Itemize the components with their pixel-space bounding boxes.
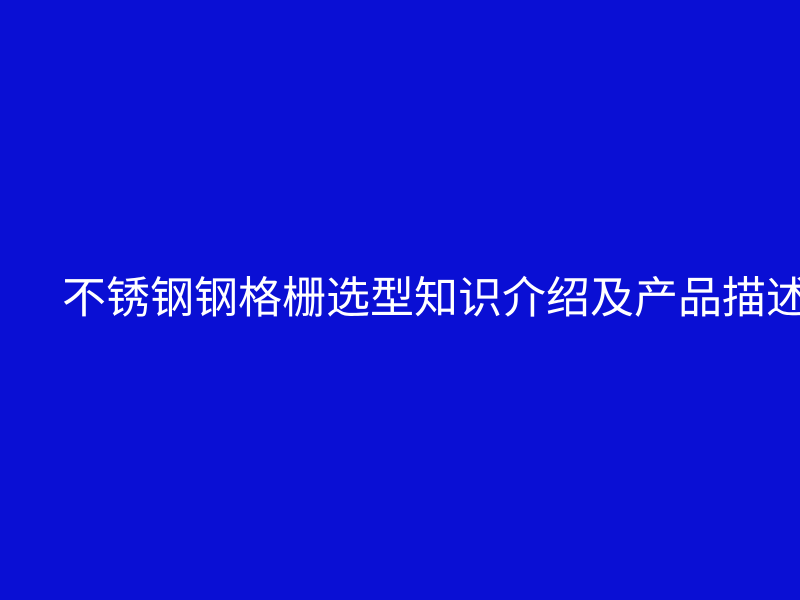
slide-root: 不锈钢钢格栅选型知识介绍及产品描述 [0,0,800,600]
slide-title: 不锈钢钢格栅选型知识介绍及产品描述 [62,275,800,323]
slide-title-block: 不锈钢钢格栅选型知识介绍及产品描述 [62,264,762,334]
